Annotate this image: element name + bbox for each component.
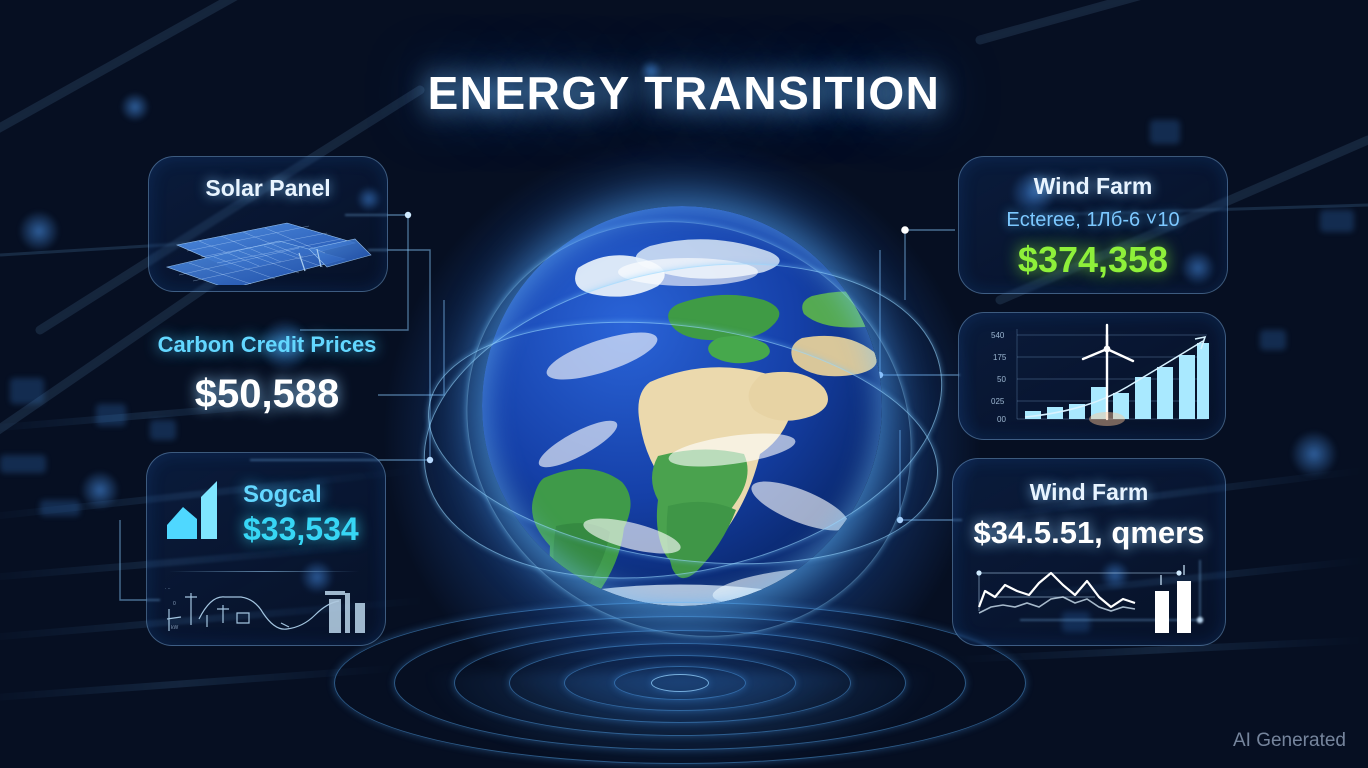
- wind-volatility-chart: [965, 563, 1215, 641]
- globe-reflection: [430, 672, 930, 768]
- card-wind-farm-top-title: Wind Farm: [959, 173, 1227, 200]
- card-solar-panel[interactable]: Solar Panel: [148, 156, 388, 292]
- card-carbon-credit-value: $50,588: [142, 372, 392, 417]
- wind-growth-chart: 540175 5002500: [967, 319, 1217, 431]
- card-carbon-credit-title: Carbon Credit Prices: [142, 332, 392, 358]
- sogcal-line-chart: . ..0kW: [163, 579, 375, 637]
- card-wind-farm-bottom-title: Wind Farm: [953, 479, 1225, 506]
- card-sogcal[interactable]: Sogcal $33,534 . ..0kW: [146, 452, 386, 646]
- card-wind-farm-top-subtitle: Ecteree, 1Лб-6 ˅10: [959, 209, 1227, 232]
- svg-text:540: 540: [991, 331, 1005, 340]
- poster-canvas: ENERGY TRANSITION Solar Panel: [0, 0, 1368, 768]
- page-title: ENERGY TRANSITION: [0, 66, 1368, 120]
- svg-text:00: 00: [997, 415, 1006, 424]
- card-sogcal-title: Sogcal: [243, 481, 322, 509]
- card-sogcal-divider: [169, 571, 359, 572]
- card-sogcal-value: $33,534: [243, 511, 359, 548]
- ai-generated-watermark: AI Generated: [1233, 730, 1346, 752]
- card-solar-panel-title: Solar Panel: [149, 175, 387, 202]
- bar-chart-icon: [167, 481, 229, 539]
- solar-panel-array-icon: [159, 205, 379, 285]
- card-wind-farm-bottom[interactable]: Wind Farm $34.5.51, qmers: [952, 458, 1226, 646]
- card-carbon-credit[interactable]: Carbon Credit Prices $50,588: [142, 330, 392, 426]
- svg-text:0: 0: [173, 601, 176, 607]
- svg-text:025: 025: [991, 397, 1005, 406]
- card-wind-chart[interactable]: 540175 5002500: [958, 312, 1226, 440]
- svg-text:175: 175: [993, 353, 1007, 362]
- card-wind-farm-top[interactable]: Wind Farm Ecteree, 1Лб-6 ˅10 $374,358: [958, 156, 1228, 294]
- svg-text:kW: kW: [171, 625, 179, 631]
- svg-text:50: 50: [997, 375, 1006, 384]
- card-wind-farm-top-value: $374,358: [959, 239, 1227, 281]
- svg-text:. ..: . ..: [165, 585, 171, 591]
- card-wind-farm-bottom-value: $34.5.51, qmers: [953, 515, 1225, 551]
